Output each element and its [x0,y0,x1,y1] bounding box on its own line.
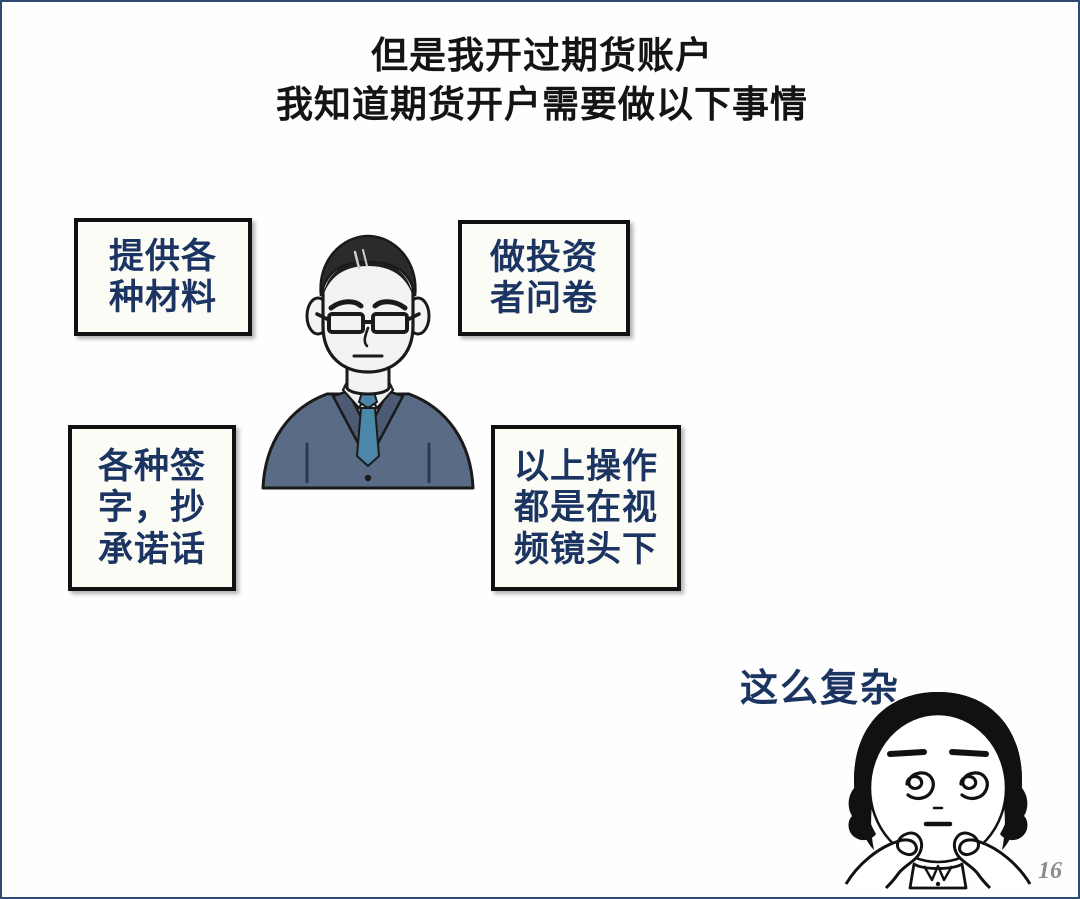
callout-line: 种材料 [109,277,217,318]
callout-line: 各种签 [98,446,206,487]
callout-line: 字，抄 [98,487,206,528]
callout-line: 提供各 [109,236,217,277]
callout-line: 都是在视 [514,487,658,528]
callout-video-recorded: 以上操作 都是在视 频镜头下 [491,425,681,591]
dizzy-face-illustration [828,688,1048,888]
callout-line: 频镜头下 [514,529,658,570]
businessman-illustration [255,230,481,488]
callout-investor-questionnaire: 做投资 者问卷 [458,220,630,336]
callout-line: 者问卷 [490,278,598,319]
title-line-2: 我知道期货开户需要做以下事情 [2,81,1080,130]
page-title: 但是我开过期货账户 我知道期货开户需要做以下事情 [2,32,1080,130]
title-line-1: 但是我开过期货账户 [2,32,1080,81]
callout-provide-materials: 提供各 种材料 [74,218,252,336]
callout-line: 承诺话 [98,529,206,570]
callout-line: 做投资 [490,237,598,278]
slide-canvas: 但是我开过期货账户 我知道期货开户需要做以下事情 提供各 种材料 做投资 者问卷… [0,0,1080,899]
callout-signatures-copy: 各种签 字，抄 承诺话 [68,425,236,591]
page-number: 16 [1038,858,1062,885]
callout-line: 以上操作 [514,446,658,487]
